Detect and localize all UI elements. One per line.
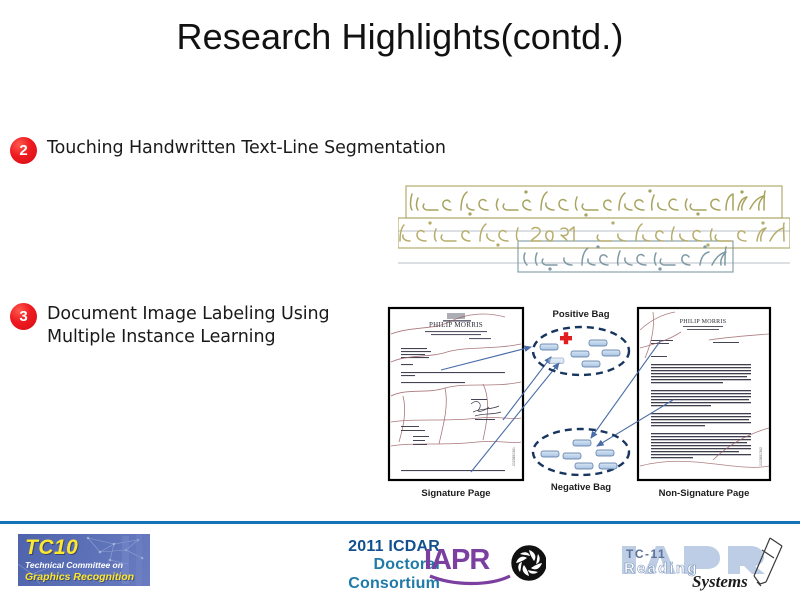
non-signature-page-caption: Non-Signature Page bbox=[659, 488, 750, 499]
bullet-badge-2: 2 bbox=[10, 137, 37, 164]
svg-text:Reading: Reading bbox=[624, 560, 699, 577]
negative-bag-label: Negative Bag bbox=[551, 482, 611, 493]
page-title: Research Highlights(contd.) bbox=[0, 16, 800, 58]
non-signature-page-thumb: PHILIP MORRIS bbox=[638, 308, 770, 480]
positive-bag-label: Positive Bag bbox=[552, 309, 609, 320]
svg-text:TC-11: TC-11 bbox=[626, 547, 666, 561]
svg-text:IAPR: IAPR bbox=[424, 544, 490, 576]
bullet-text-2: Touching Handwritten Text-Line Segmentat… bbox=[47, 137, 446, 159]
svg-text:PHILIP MORRIS: PHILIP MORRIS bbox=[680, 319, 727, 325]
tc10-logo-subject: Graphics Recognition bbox=[25, 571, 134, 583]
svg-text:PHILIP MORRIS: PHILIP MORRIS bbox=[429, 321, 483, 329]
bullet-text-3: Document Image Labeling Using Multiple I… bbox=[47, 303, 337, 349]
tc10-logo-title: TC10 bbox=[25, 536, 78, 560]
svg-text:Systems: Systems bbox=[692, 572, 748, 591]
bullet-item-2: 2 Touching Handwritten Text-Line Segment… bbox=[10, 137, 446, 164]
slide-canvas: Research Highlights(contd.) 2 Touching H… bbox=[0, 0, 800, 600]
doctoral-consortium-label: Doctoral Consortium bbox=[306, 556, 440, 593]
bullet-badge-3: 3 bbox=[10, 303, 37, 330]
footer-bar: TC10 Technical Committee on Graphics Rec… bbox=[0, 524, 800, 600]
signature-page-thumb: PHILIP MORRIS bbox=[389, 308, 523, 480]
mil-diagram-image: PHILIP MORRIS bbox=[383, 300, 783, 505]
tc11-reading-systems-logo: TC-11 Reading Systems bbox=[600, 532, 790, 592]
tc10-logo: TC10 Technical Committee on Graphics Rec… bbox=[18, 534, 150, 586]
handwritten-text-line-segmentation-image bbox=[398, 183, 790, 278]
svg-text:2023850362: 2023850362 bbox=[759, 447, 763, 466]
icdar-doctoral-consortium-logo: 2011 ICDAR Doctoral Consortium bbox=[306, 538, 440, 593]
svg-text:2023850361: 2023850361 bbox=[512, 447, 516, 466]
signature-page-caption: Signature Page bbox=[421, 488, 490, 499]
iapr-logo: IAPR bbox=[424, 536, 546, 588]
icdar-year-label: 2011 ICDAR bbox=[306, 538, 440, 556]
tc10-logo-subtitle: Technical Committee on bbox=[25, 560, 123, 570]
bullet-item-3: 3 Document Image Labeling Using Multiple… bbox=[10, 303, 337, 349]
